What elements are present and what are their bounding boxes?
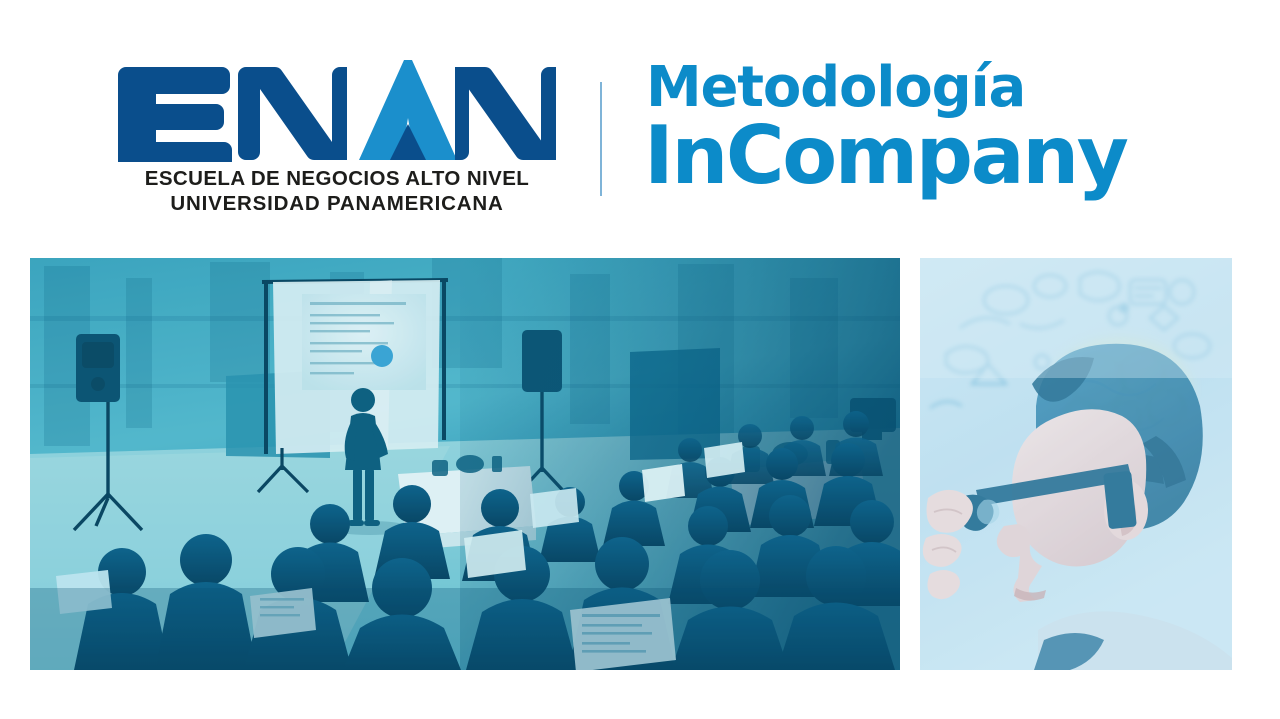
conference-audience-photo bbox=[30, 258, 900, 670]
logo-tagline-line-2: UNIVERSIDAD PANAMERICANA bbox=[118, 191, 556, 216]
slide-root: ESCUELA DE NEGOCIOS ALTO NIVEL UNIVERSID… bbox=[0, 0, 1280, 719]
page-title: Metodología InCompany bbox=[646, 60, 1246, 225]
man-with-glasses-photo bbox=[920, 258, 1232, 670]
logo-tagline-line-1: ESCUELA DE NEGOCIOS ALTO NIVEL bbox=[145, 167, 529, 190]
title-line-1: Metodología bbox=[646, 60, 1025, 116]
logo-tagline: ESCUELA DE NEGOCIOS ALTO NIVEL UNIVERSID… bbox=[118, 166, 556, 216]
vertical-divider-icon bbox=[600, 82, 602, 196]
slide-header: ESCUELA DE NEGOCIOS ALTO NIVEL UNIVERSID… bbox=[0, 0, 1280, 240]
enan-logo: ESCUELA DE NEGOCIOS ALTO NIVEL UNIVERSID… bbox=[118, 58, 558, 218]
title-line-2: InCompany bbox=[644, 116, 1127, 196]
enan-chevron-logo-icon bbox=[118, 58, 556, 162]
